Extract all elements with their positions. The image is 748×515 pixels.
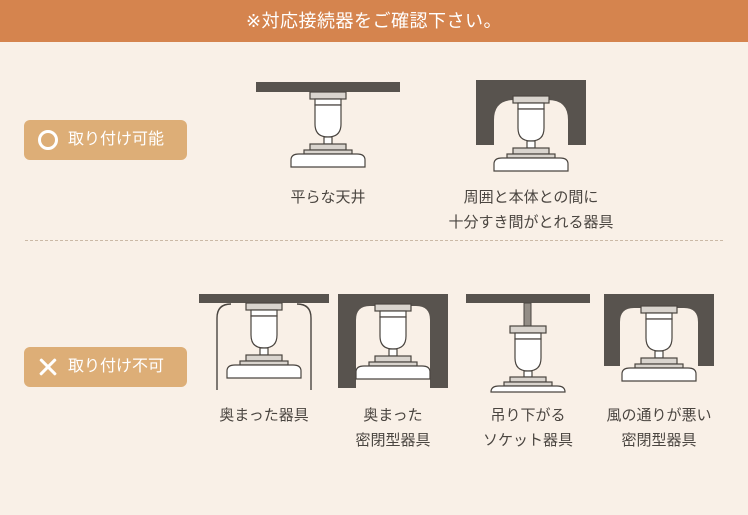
item-recessed-sealed-fixture-caption: 奥まった 密閉型器具 <box>355 403 430 453</box>
recessed-fixture-diagram <box>194 288 334 393</box>
poor-airflow-sealed-diagram <box>592 288 726 393</box>
circle-icon <box>38 130 58 150</box>
caption-line: 周囲と本体との間に <box>449 185 614 210</box>
flat-ceiling-diagram <box>253 70 403 175</box>
item-hanging-socket-fixture: 吊り下がる ソケット器具 <box>463 288 593 453</box>
item-recessed-sealed-fixture: 奥まった 密閉型器具 <box>329 288 457 453</box>
item-poor-airflow-sealed-fixture-caption: 風の通りが悪い 密閉型器具 <box>606 403 711 453</box>
item-enough-clearance: 周囲と本体との間に 十分すき間がとれる器具 <box>456 70 606 235</box>
item-recessed-fixture-caption: 奥まった器具 <box>219 403 308 428</box>
caption-line: 密閉型器具 <box>606 428 711 453</box>
item-poor-airflow-sealed-fixture: 風の通りが悪い 密閉型器具 <box>592 288 726 453</box>
status-badge-ok-label: 取り付け可能 <box>68 132 164 148</box>
item-recessed-fixture: 奥まった器具 <box>194 288 334 428</box>
caption-line: 奥まった <box>355 403 430 428</box>
compatibility-guide-page: ※対応接続器をご確認下さい。 取り付け可能 取り付け不可 <box>0 0 748 515</box>
caption-line: 密閉型器具 <box>355 428 430 453</box>
status-badge-ng: 取り付け不可 <box>24 347 187 387</box>
caption-line: 平らな天井 <box>290 185 365 210</box>
caption-line: 風の通りが悪い <box>606 403 711 428</box>
item-enough-clearance-caption: 周囲と本体との間に 十分すき間がとれる器具 <box>449 185 614 235</box>
section-divider <box>25 240 723 241</box>
caption-line: ソケット器具 <box>483 428 573 453</box>
item-hanging-socket-fixture-caption: 吊り下がる ソケット器具 <box>483 403 573 453</box>
item-flat-ceiling: 平らな天井 <box>253 70 403 210</box>
caption-line: 十分すき間がとれる器具 <box>449 210 614 235</box>
status-badge-ok: 取り付け可能 <box>24 120 187 160</box>
caption-line: 奥まった器具 <box>219 403 308 428</box>
status-badge-ng-label: 取り付け不可 <box>68 359 164 375</box>
cross-icon <box>38 357 58 377</box>
item-flat-ceiling-caption: 平らな天井 <box>290 185 365 210</box>
hanging-socket-diagram <box>463 288 593 393</box>
enough-clearance-diagram <box>456 70 606 175</box>
caption-line: 吊り下がる <box>483 403 573 428</box>
header-bar: ※対応接続器をご確認下さい。 <box>0 0 748 42</box>
page-title: ※対応接続器をご確認下さい。 <box>246 12 502 30</box>
recessed-sealed-fixture-diagram <box>329 288 457 393</box>
